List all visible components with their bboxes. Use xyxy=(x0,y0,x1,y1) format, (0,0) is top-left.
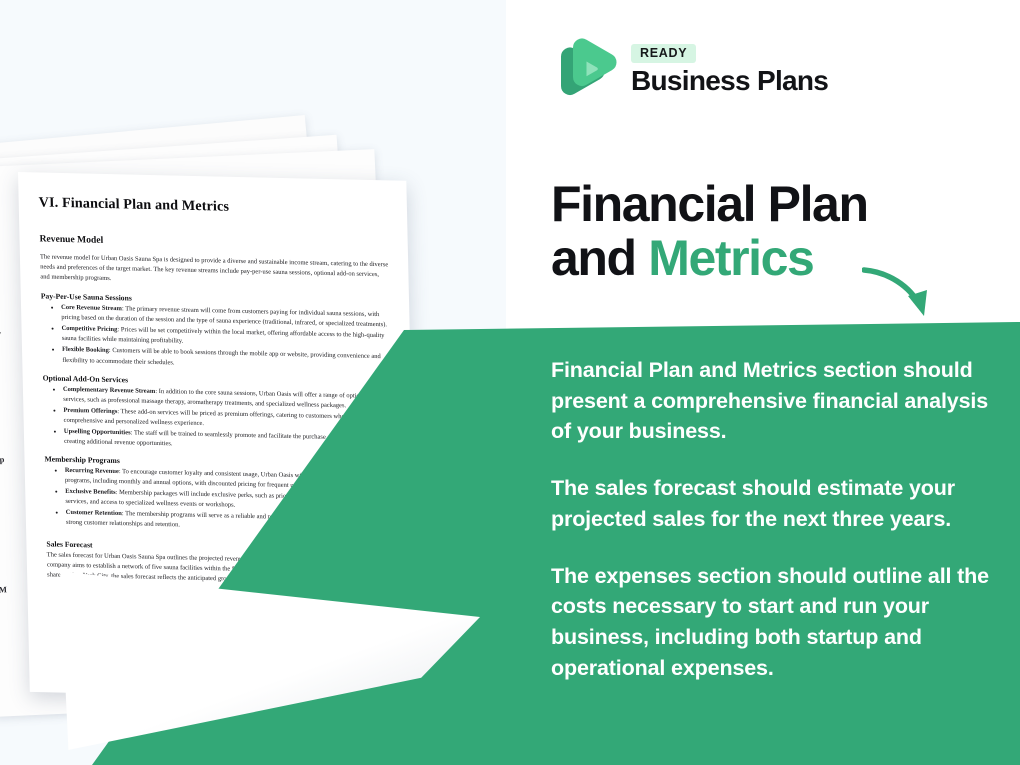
bullet-term: Recurring Revenue xyxy=(65,467,119,475)
curved-arrow-down-right-icon xyxy=(862,262,952,324)
bullet-term: Upselling Opportunities xyxy=(64,428,131,437)
slide-canvas: V Re The inc stre Pay Op M VI. Financial… xyxy=(0,0,1020,765)
page-title: Financial Plan and Metrics xyxy=(551,178,868,285)
document-bullet-list: Core Revenue Stream: The primary revenue… xyxy=(41,303,391,373)
ready-badge: READY xyxy=(631,44,696,63)
document-section-heading: Revenue Model xyxy=(39,233,388,252)
brand-wordmark: READY Business Plans xyxy=(631,44,828,95)
play-triangles-icon xyxy=(551,36,617,104)
bullet-term: Core Revenue Stream xyxy=(61,304,122,312)
headline-line-1: Financial Plan xyxy=(551,178,868,232)
headline-accent: Metrics xyxy=(648,230,813,286)
panel-paragraph: Financial Plan and Metrics section shoul… xyxy=(551,355,999,447)
bullet-term: Premium Offerings xyxy=(63,407,117,415)
bullet-term: Competitive Pricing xyxy=(61,325,117,333)
headline-line-2: and Metrics xyxy=(551,232,868,286)
document-paragraph: The revenue model for Urban Oasis Sauna … xyxy=(40,252,389,290)
bullet-term: Exclusive Benefits xyxy=(65,488,116,496)
panel-paragraph: The expenses section should outline all … xyxy=(551,561,999,684)
document-title: VI. Financial Plan and Metrics xyxy=(39,194,388,219)
brand-logo[interactable]: READY Business Plans xyxy=(551,36,828,104)
bullet-term: Customer Retention xyxy=(66,509,122,517)
panel-paragraph: The sales forecast should estimate your … xyxy=(551,473,999,534)
bullet-term: Complementary Revenue Stream xyxy=(63,385,156,394)
panel-description: Financial Plan and Metrics section shoul… xyxy=(551,355,999,684)
brand-name: Business Plans xyxy=(631,66,828,95)
headline-prefix: and xyxy=(551,230,648,286)
bullet-term: Flexible Booking xyxy=(62,346,109,354)
